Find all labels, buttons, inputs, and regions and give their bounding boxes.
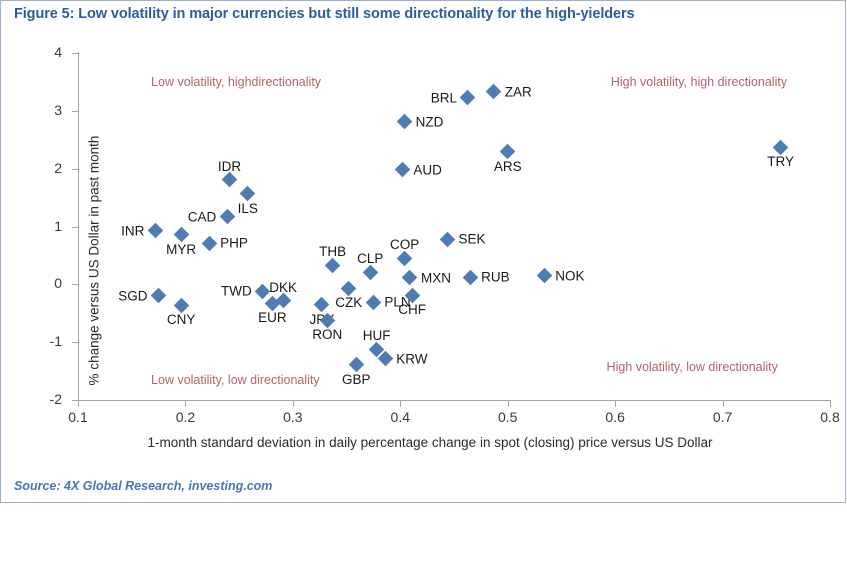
y-axis-tick-label: 3 [0,102,62,118]
data-point-aud [395,162,411,178]
data-point-label-nzd: NZD [416,114,444,129]
data-point-twd [255,283,271,299]
data-point-label-rub: RUB [481,270,510,285]
data-point-idr [222,172,238,188]
figure-container: Figure 5: Low volatility in major curren… [0,0,847,504]
data-point-label-ils: ILS [238,201,258,216]
y-axis-tick-label: 1 [0,218,62,234]
x-axis-tick-label: 0.7 [693,409,753,425]
data-point-label-ars: ARS [494,159,522,174]
data-point-cop [397,251,413,267]
x-axis-tick-label: 0.2 [155,409,215,425]
data-point-nok [536,268,552,284]
data-point-label-gbp: GBP [342,372,371,387]
data-point-label-zar: ZAR [505,84,532,99]
y-axis-tick [72,169,78,170]
data-point-label-krw: KRW [396,351,427,366]
data-point-label-myr: MYR [166,242,196,257]
x-axis-tick [293,401,294,407]
data-point-label-nok: NOK [555,268,584,283]
data-point-ars [500,144,516,160]
x-axis-tick-label: 0.3 [263,409,323,425]
data-point-label-try: TRY [767,154,794,169]
data-point-php [201,235,217,251]
data-point-label-huf: HUF [363,328,391,343]
data-point-pln [366,294,382,310]
y-axis-tick-label: 4 [0,44,62,60]
data-point-label-twd: TWD [221,284,252,299]
y-axis-tick [72,342,78,343]
quadrant-annotation-high-vol-high-dir: High volatility, high directionality [611,75,787,89]
x-axis-title: 1-month standard deviation in daily perc… [60,435,800,450]
x-axis-tick-label: 0.5 [478,409,538,425]
data-point-cny [173,297,189,313]
y-axis-tick [72,227,78,228]
x-axis-tick [78,401,79,407]
x-axis-tick-label: 0.4 [370,409,430,425]
data-point-gbp [348,357,364,373]
data-point-label-sgd: SGD [118,288,147,303]
y-axis-tick [72,284,78,285]
data-point-cad [220,209,236,225]
data-point-jpy [314,297,330,313]
data-point-label-eur: EUR [258,310,287,325]
data-point-label-aud: AUD [413,162,442,177]
data-point-myr [173,227,189,243]
chart-title: Figure 5: Low volatility in major curren… [14,6,634,22]
data-point-label-inr: INR [121,223,144,238]
data-point-nzd [397,114,413,130]
y-axis-tick [72,53,78,54]
x-axis-tick-label: 0.6 [585,409,645,425]
y-axis-tick-label: 0 [0,275,62,291]
y-axis-tick-label: -1 [0,333,62,349]
data-point-label-cad: CAD [188,209,217,224]
data-point-clp [362,264,378,280]
data-point-zar [486,84,502,100]
data-point-thb [325,257,341,273]
x-axis-tick [400,401,401,407]
data-point-sek [440,231,456,247]
data-point-label-idr: IDR [218,159,241,174]
data-point-label-mxn: MXN [421,270,451,285]
data-point-sgd [151,288,167,304]
data-point-label-cny: CNY [167,312,196,327]
x-axis-tick-label: 0.8 [800,409,847,425]
data-point-mxn [402,270,418,286]
data-point-rub [462,270,478,286]
plot-area: % change versus US Dollar in past month … [78,53,830,400]
quadrant-annotation-low-vol-high-dir: Low volatility, highdirectionality [151,75,321,89]
x-axis-tick [615,401,616,407]
quadrant-annotation-high-vol-low-dir: High volatility, low directionality [607,360,778,374]
data-point-label-php: PHP [220,236,248,251]
data-point-label-cop: COP [390,237,419,252]
data-point-label-sek: SEK [459,232,486,247]
source-note: Source: 4X Global Research, investing.co… [14,479,272,493]
x-axis-tick-label: 0.1 [48,409,108,425]
data-point-label-clp: CLP [357,251,383,266]
x-axis-tick [508,401,509,407]
data-point-czk [341,281,357,297]
data-point-try [773,139,789,155]
y-axis-tick-label: 2 [0,160,62,176]
y-axis-tick [72,111,78,112]
data-point-label-chf: CHF [398,302,426,317]
x-axis-tick [830,401,831,407]
x-axis-line [78,400,831,401]
data-point-label-brl: BRL [431,90,457,105]
y-axis-tick-label: -2 [0,391,62,407]
data-point-label-ron: RON [312,327,342,342]
x-axis-tick [185,401,186,407]
data-point-inr [148,223,164,239]
quadrant-annotation-low-vol-low-dir: Low volatility, low directionality [151,373,320,387]
y-axis-title: % change versus US Dollar in past month [87,0,102,581]
x-axis-tick [723,401,724,407]
data-point-label-czk: CZK [335,295,362,310]
data-point-brl [460,90,476,106]
data-point-label-dkk: DKK [269,280,297,295]
data-point-label-thb: THB [319,244,346,259]
data-point-ils [240,186,256,202]
